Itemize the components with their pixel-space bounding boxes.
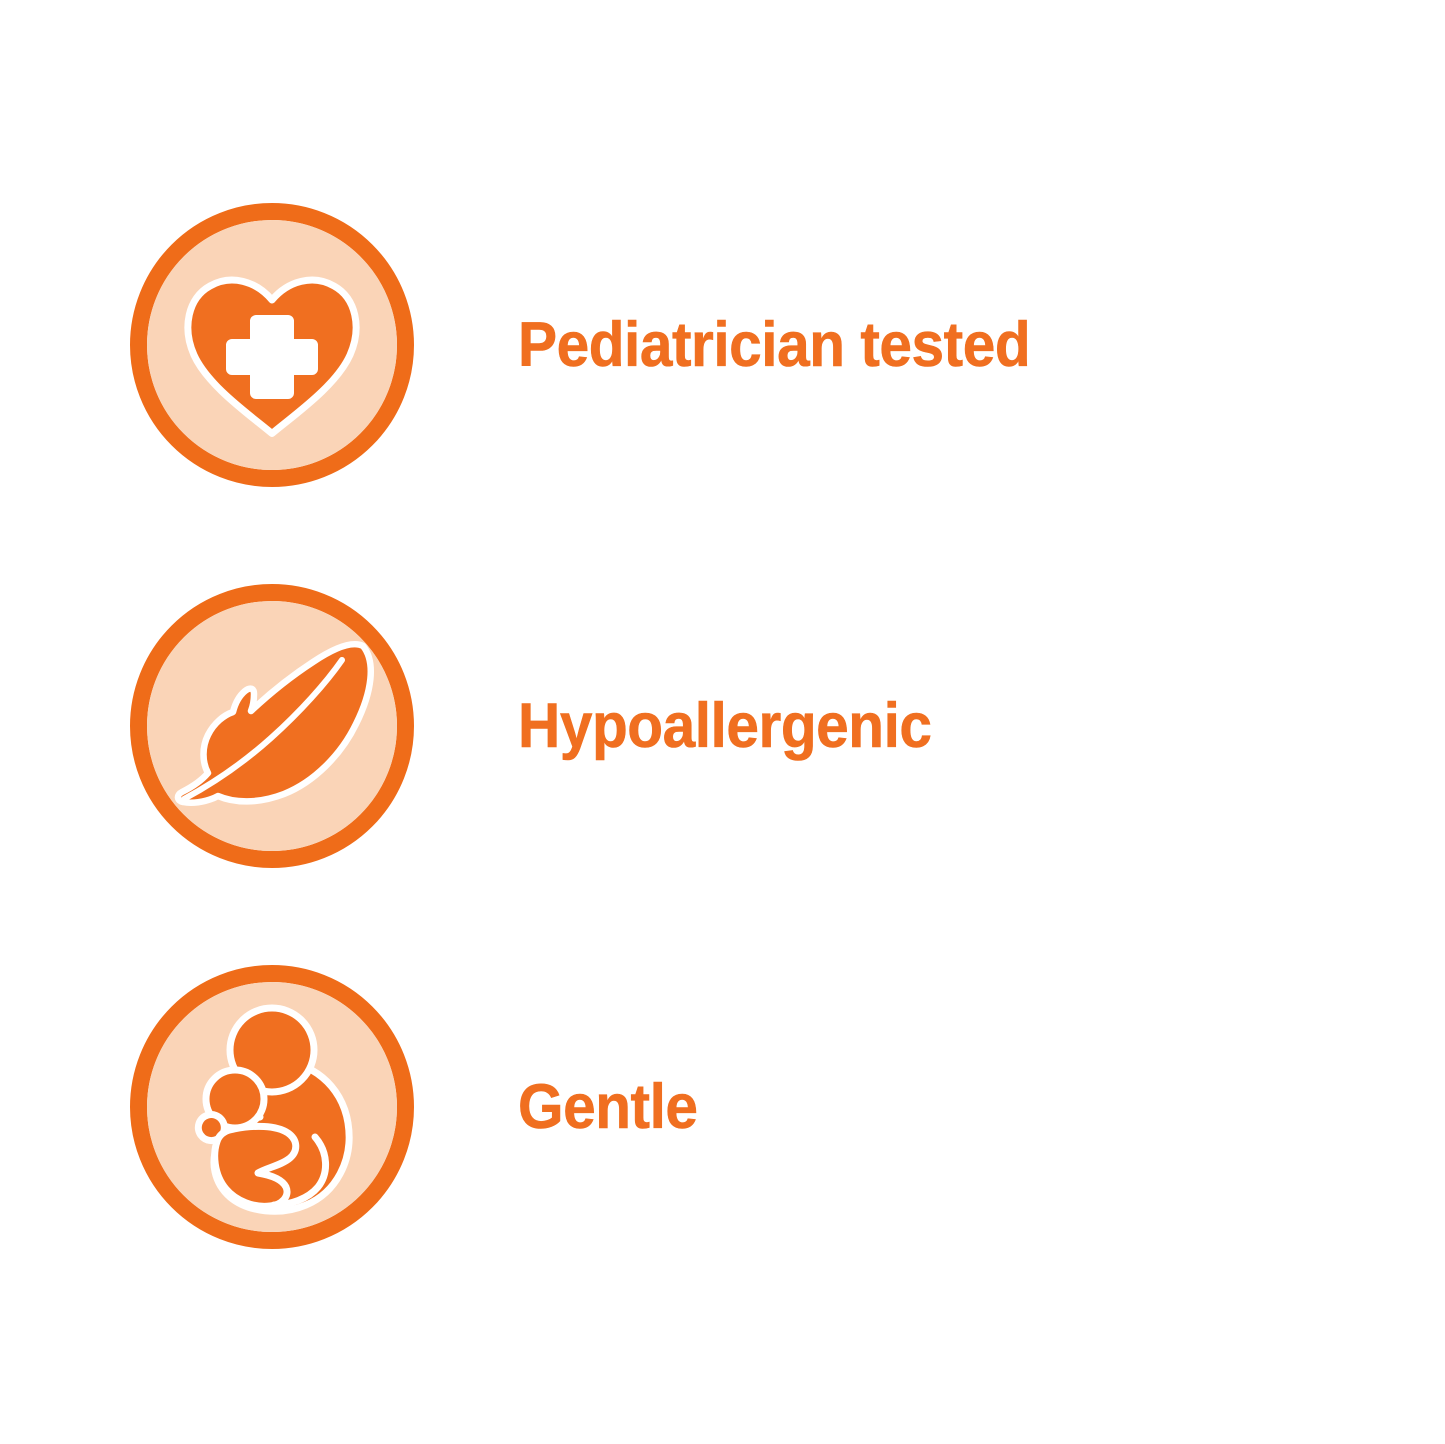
benefit-item-pediatrician-tested: Pediatrician tested (130, 203, 1310, 487)
heart-medical-cross-icon (130, 203, 414, 487)
benefit-item-gentle: Gentle (130, 965, 1310, 1249)
benefit-label-gentle: Gentle (518, 1076, 698, 1139)
benefit-item-hypoallergenic: Hypoallergenic (130, 584, 1310, 868)
mother-holding-baby-icon (130, 965, 414, 1249)
feather-icon (130, 584, 414, 868)
benefit-label-pediatrician-tested: Pediatrician tested (518, 314, 1030, 377)
benefits-panel: Pediatrician tested Hypoallergenic (0, 0, 1445, 1444)
benefit-label-hypoallergenic: Hypoallergenic (518, 695, 932, 758)
